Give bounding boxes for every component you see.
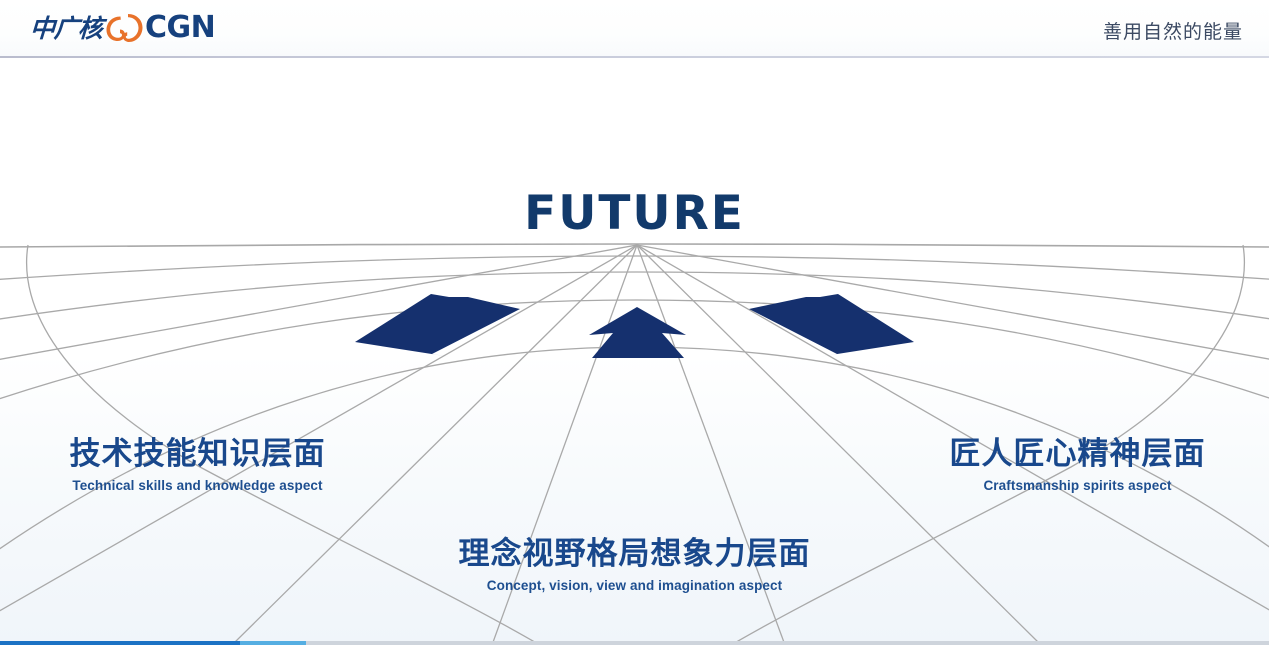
aspect-left-subtitle: Technical skills and knowledge aspect <box>50 478 345 493</box>
cgn-logo: 中广核 CGN <box>30 11 215 45</box>
video-progress-fill[interactable] <box>0 641 240 645</box>
arrow-center-icon <box>589 307 686 358</box>
aspect-right-subtitle: Craftsmanship spirits aspect <box>930 478 1225 493</box>
page-title: FUTURE <box>0 186 1269 241</box>
slide-header: 中广核 CGN 善用自然的能量 <box>0 0 1269 57</box>
company-tagline: 善用自然的能量 <box>1103 17 1243 44</box>
logo-chinese-text: 中广核 <box>29 16 102 41</box>
aspect-left-title: 技术技能知识层面 <box>50 437 345 473</box>
logo-english-text: CGN <box>145 13 215 43</box>
aspect-center-subtitle: Concept, vision, view and imagination as… <box>437 578 832 593</box>
header-divider <box>0 56 1269 58</box>
presentation-slide: 中广核 CGN 善用自然的能量 <box>0 0 1269 645</box>
aspect-label-craftsmanship: 匠人匠心精神层面 Craftsmanship spirits aspect <box>930 437 1225 493</box>
aspect-right-title: 匠人匠心精神层面 <box>930 437 1225 473</box>
arrow-left-icon <box>355 294 520 357</box>
aspect-center-title: 理念视野格局想象力层面 <box>437 537 832 573</box>
aspect-label-technical: 技术技能知识层面 Technical skills and knowledge … <box>50 437 345 493</box>
arrow-right-icon <box>749 294 914 357</box>
cgn-swirl-icon <box>104 12 146 44</box>
video-progress-buffer <box>240 641 306 645</box>
aspect-label-concept: 理念视野格局想象力层面 Concept, vision, view and im… <box>437 537 832 593</box>
